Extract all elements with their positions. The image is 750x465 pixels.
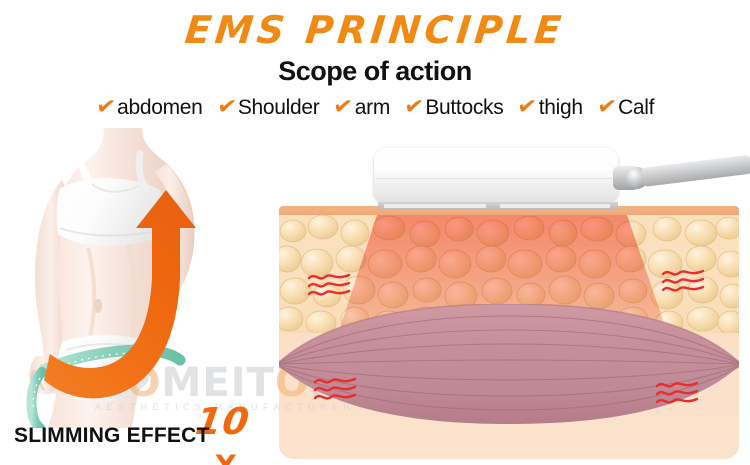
slimming-effect-caption: SLIMMING EFFECT bbox=[14, 424, 254, 448]
scope-item-label: abdomen bbox=[117, 96, 202, 120]
applicator-seam bbox=[376, 178, 616, 179]
slimming-effect-panel: BOMEITON AESTHETICS MANUFACTURER bbox=[0, 128, 272, 465]
scope-item-label: Buttocks bbox=[425, 96, 503, 120]
scope-item-shoulder: ✔ Shoulder bbox=[217, 96, 320, 120]
applicator-contact-pad bbox=[384, 204, 486, 208]
stimulation-wave-icon bbox=[653, 378, 701, 410]
scope-item-thigh: ✔ thigh bbox=[517, 96, 582, 120]
scope-item-label: Shoulder bbox=[238, 96, 320, 120]
scope-item-arm: ✔ arm bbox=[333, 96, 390, 120]
check-icon: ✔ bbox=[215, 94, 237, 119]
check-icon: ✔ bbox=[332, 94, 354, 119]
check-icon: ✔ bbox=[94, 94, 116, 119]
check-icon: ✔ bbox=[516, 94, 538, 119]
stimulation-wave-icon bbox=[305, 270, 353, 302]
ems-principle-infographic: EMS PRINCIPLE Scope of action ✔ abdomen … bbox=[0, 0, 750, 465]
stimulation-wave-icon bbox=[659, 266, 707, 298]
skin-cross-section-diagram: BOMEITON AESTHETICS MANUFACTURER bbox=[279, 206, 739, 459]
scope-item-abdomen: ✔ abdomen bbox=[96, 96, 203, 120]
growth-arrow-icon bbox=[0, 128, 272, 428]
subtitle: Scope of action bbox=[0, 56, 750, 87]
scope-item-label: Calf bbox=[618, 96, 654, 120]
scope-of-action-list: ✔ abdomen ✔ Shoulder ✔ arm ✔ Buttocks ✔ … bbox=[0, 96, 750, 120]
scope-item-label: arm bbox=[355, 96, 390, 120]
applicator-body bbox=[374, 148, 618, 204]
applicator-cable bbox=[641, 155, 750, 187]
scope-item-buttocks: ✔ Buttocks bbox=[404, 96, 503, 120]
scope-item-calf: ✔ Calf bbox=[597, 96, 654, 120]
page-title: EMS PRINCIPLE bbox=[0, 8, 750, 52]
scope-item-label: thigh bbox=[539, 96, 583, 120]
stimulation-wave-icon bbox=[311, 374, 359, 406]
check-icon: ✔ bbox=[403, 94, 425, 119]
multiplier-unit: X bbox=[202, 452, 250, 465]
check-icon: ✔ bbox=[595, 94, 617, 119]
ems-applicator-handpiece[interactable] bbox=[374, 148, 750, 214]
applicator-contact-pad bbox=[500, 204, 610, 208]
